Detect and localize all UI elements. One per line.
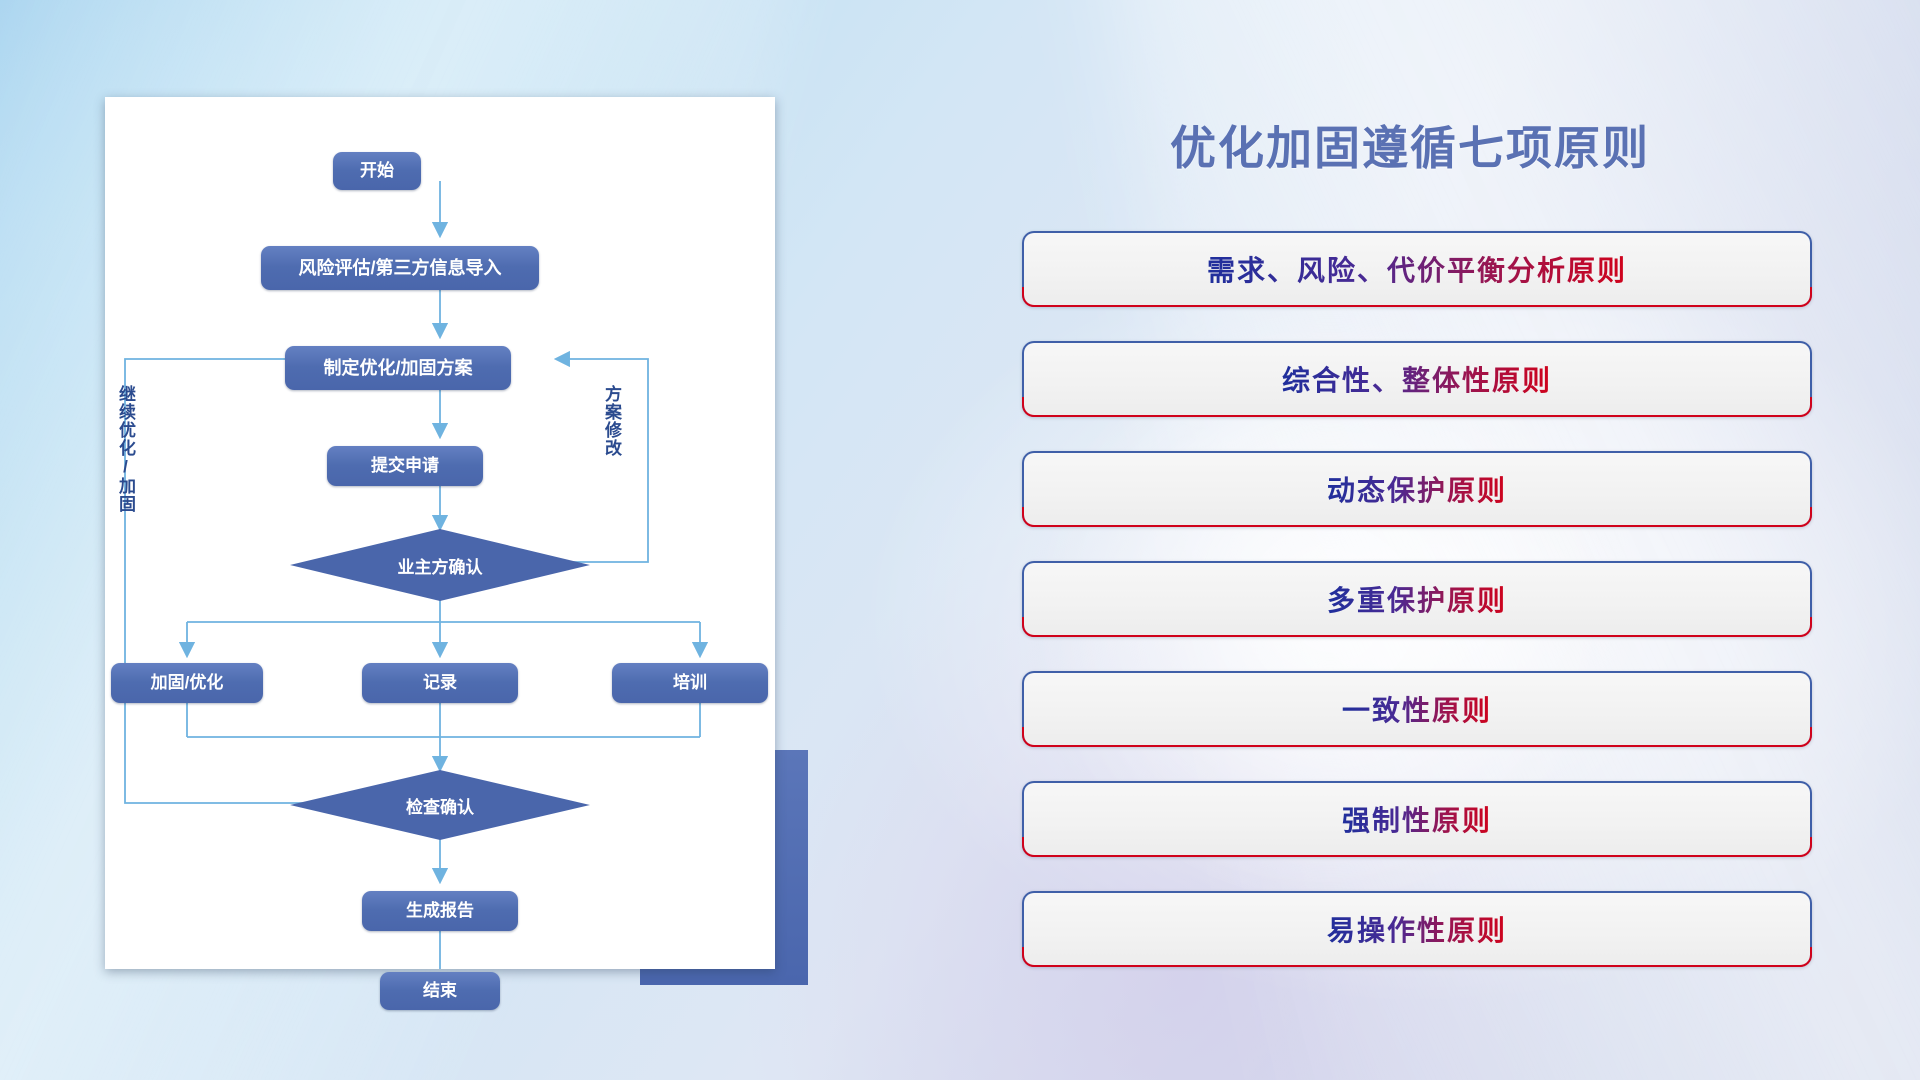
flow-node-start[interactable]: 开始 — [333, 152, 421, 190]
principle-label: 需求、风险、代价平衡分析原则 — [1207, 249, 1627, 289]
principle-label: 易操作性原则 — [1327, 909, 1507, 949]
page-title: 优化加固遵循七项原则 — [1010, 112, 1810, 178]
flow-node-generate-report[interactable]: 生成报告 — [362, 891, 518, 931]
flow-node-reinforce-optimize[interactable]: 加固/优化 — [111, 663, 263, 703]
principle-item-5[interactable]: 一致性原则 — [1022, 671, 1812, 747]
flow-node-plan-label: 制定优化/加固方案 — [323, 358, 472, 379]
flow-node-training-label: 培训 — [673, 673, 707, 693]
principle-item-6[interactable]: 强制性原则 — [1022, 781, 1812, 857]
flow-decision-owner-confirm-label: 业主方确认 — [398, 553, 483, 578]
flow-node-submit-application-label: 提交申请 — [371, 456, 439, 476]
flow-node-end-label: 结束 — [423, 981, 457, 1001]
principle-label: 多重保护原则 — [1327, 579, 1507, 619]
principle-label: 一致性原则 — [1342, 689, 1492, 729]
flow-node-start-label: 开始 — [360, 161, 394, 181]
flow-node-submit-application[interactable]: 提交申请 — [327, 446, 483, 486]
principle-label: 强制性原则 — [1342, 799, 1492, 839]
flow-edge-label-plan-revision: 方案修改 — [603, 385, 620, 457]
flow-edge-label-continue-optimize: 继续优化/加固 — [117, 385, 134, 513]
flowchart-card: 开始 风险评估/第三方信息导入 制定优化/加固方案 提交申请 业主方确认 加固/… — [105, 97, 775, 969]
principles-list: 需求、风险、代价平衡分析原则 综合性、整体性原则 动态保护原则 多重保护原则 一… — [1022, 231, 1812, 1001]
principle-item-1[interactable]: 需求、风险、代价平衡分析原则 — [1022, 231, 1812, 307]
slide-canvas: 开始 风险评估/第三方信息导入 制定优化/加固方案 提交申请 业主方确认 加固/… — [0, 0, 1920, 1080]
flow-node-generate-report-label: 生成报告 — [406, 901, 474, 921]
principle-item-2[interactable]: 综合性、整体性原则 — [1022, 341, 1812, 417]
flow-node-risk-assessment-label: 风险评估/第三方信息导入 — [299, 258, 502, 279]
flow-node-record-label: 记录 — [423, 673, 457, 693]
principle-item-4[interactable]: 多重保护原则 — [1022, 561, 1812, 637]
flow-decision-inspection-confirm[interactable]: 检查确认 — [290, 770, 590, 840]
flow-node-record[interactable]: 记录 — [362, 663, 518, 703]
principle-item-3[interactable]: 动态保护原则 — [1022, 451, 1812, 527]
flow-node-training[interactable]: 培训 — [612, 663, 768, 703]
principle-label: 综合性、整体性原则 — [1282, 359, 1552, 399]
flow-node-plan[interactable]: 制定优化/加固方案 — [285, 346, 511, 390]
flow-node-end[interactable]: 结束 — [380, 972, 500, 1010]
flow-decision-owner-confirm[interactable]: 业主方确认 — [290, 529, 590, 601]
flow-node-reinforce-optimize-label: 加固/优化 — [151, 673, 224, 693]
principle-label: 动态保护原则 — [1327, 469, 1507, 509]
flow-node-risk-assessment[interactable]: 风险评估/第三方信息导入 — [261, 246, 539, 290]
flow-decision-inspection-confirm-label: 检查确认 — [406, 793, 474, 818]
principle-item-7[interactable]: 易操作性原则 — [1022, 891, 1812, 967]
